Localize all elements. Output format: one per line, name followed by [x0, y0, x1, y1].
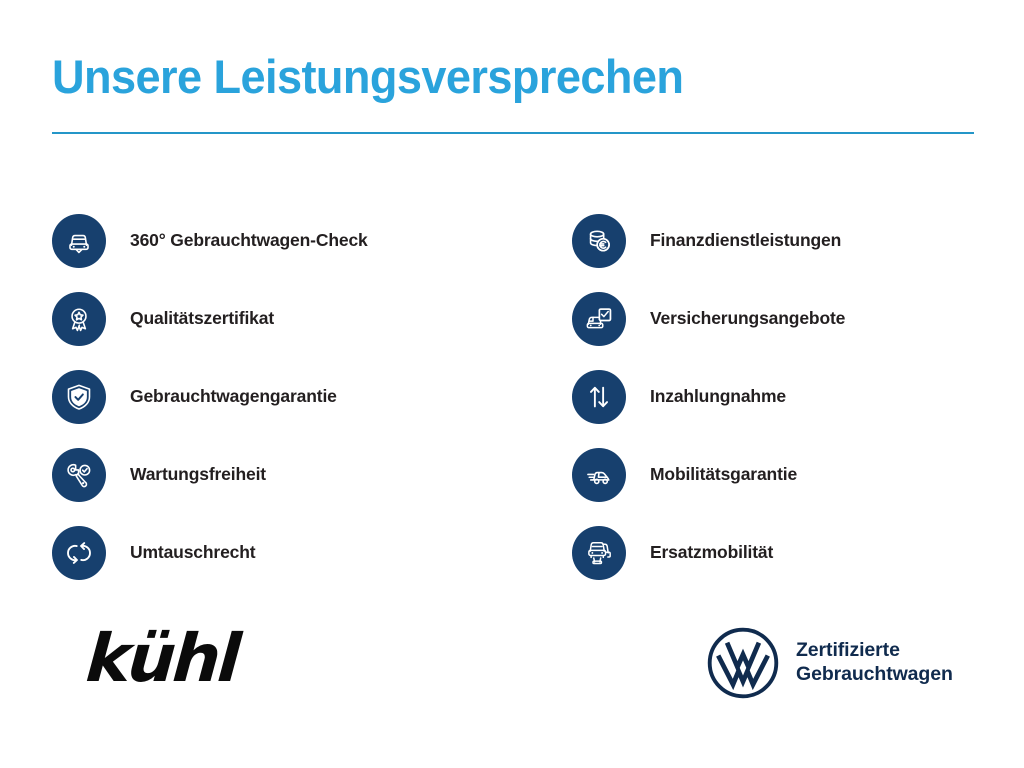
- footer-logos: kühl Zertifizierte Gebrauchtwagen: [0, 608, 1024, 768]
- benefit-item-inzahlungnahme[interactable]: Inzahlungnahme: [572, 358, 1002, 436]
- benefits-column-right: Finanzdienstleistungen Versicheru: [572, 202, 1002, 592]
- benefit-item-gebrauchtwagengarantie[interactable]: Gebrauchtwagengarantie: [52, 358, 482, 436]
- vw-caption-line-1: Zertifizierte: [796, 639, 953, 663]
- volkswagen-logo: [706, 626, 780, 700]
- dealer-logo-kuehl: kühl: [84, 626, 240, 692]
- car-moving-icon: [572, 448, 626, 502]
- benefit-item-umtauschrecht[interactable]: Umtauschrecht: [52, 514, 482, 592]
- award-medal-icon: [52, 292, 106, 346]
- benefit-label: Mobilitätsgarantie: [650, 465, 797, 484]
- benefit-item-mobilitaetsgarantie[interactable]: Mobilitätsgarantie: [572, 436, 1002, 514]
- benefit-label: Umtauschrecht: [130, 543, 255, 562]
- vw-certified-badge: Zertifizierte Gebrauchtwagen: [706, 626, 953, 700]
- shield-check-icon: [52, 370, 106, 424]
- benefit-item-versicherungsangebote[interactable]: Versicherungsangebote: [572, 280, 1002, 358]
- benefit-item-ersatzmobilitaet[interactable]: Ersatzmobilität: [572, 514, 1002, 592]
- benefit-label: Ersatzmobilität: [650, 543, 773, 562]
- car-document-check-icon: [572, 292, 626, 346]
- benefit-item-qualitaetszertifikat[interactable]: Qualitätszertifikat: [52, 280, 482, 358]
- wrench-check-icon: [52, 448, 106, 502]
- two-cars-icon: [572, 526, 626, 580]
- benefits-column-left: 360° Gebrauchtwagen-Check Qualitätszerti…: [52, 202, 482, 592]
- benefit-label: 360° Gebrauchtwagen-Check: [130, 231, 368, 250]
- coins-euro-icon: [572, 214, 626, 268]
- vw-caption-line-2: Gebrauchtwagen: [796, 663, 953, 687]
- benefit-label: Finanzdienstleistungen: [650, 231, 841, 250]
- benefit-label: Gebrauchtwagengarantie: [130, 387, 337, 406]
- benefit-item-gebrauchtwagen-check[interactable]: 360° Gebrauchtwagen-Check: [52, 202, 482, 280]
- benefit-label: Inzahlungnahme: [650, 387, 786, 406]
- benefit-item-wartungsfreiheit[interactable]: Wartungsfreiheit: [52, 436, 482, 514]
- benefit-label: Wartungsfreiheit: [130, 465, 266, 484]
- car-front-check-icon: [52, 214, 106, 268]
- slide-root: Unsere Leistungsversprechen 360° Gebrauc…: [0, 0, 1024, 768]
- vw-caption: Zertifizierte Gebrauchtwagen: [796, 639, 953, 687]
- benefit-label: Qualitätszertifikat: [130, 309, 274, 328]
- benefit-label: Versicherungsangebote: [650, 309, 845, 328]
- arrows-up-down-icon: [572, 370, 626, 424]
- exchange-arrows-icon: [52, 526, 106, 580]
- benefit-item-finanzdienstleistungen[interactable]: Finanzdienstleistungen: [572, 202, 1002, 280]
